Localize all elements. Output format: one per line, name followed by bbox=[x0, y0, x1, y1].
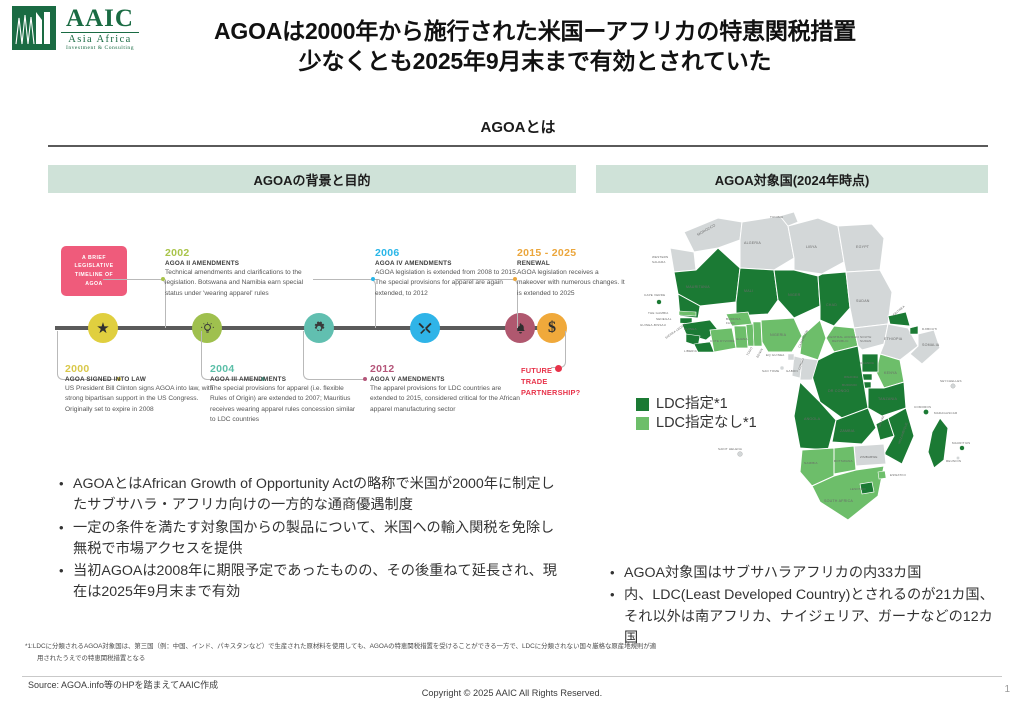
timeline-connector-2006 bbox=[313, 279, 376, 328]
map-label-botswana: BOTSWANA bbox=[834, 459, 853, 463]
map-label-algeria: ALGERIA bbox=[744, 241, 761, 245]
timeline-body-2012: The apparel provisions for LDC countries… bbox=[370, 384, 520, 415]
footnote-line1: *1:LDCに分類されるAGOA対象国は、第三国（例：中国、インド、パキスタンな… bbox=[25, 643, 656, 650]
africa-map-svg: MOROCCO ALGERIA LIBYA EGYPT TUNISIA WEST… bbox=[622, 196, 994, 556]
timeline-body-2000: US President Bill Clinton signs AGOA int… bbox=[65, 384, 215, 415]
timeline-item-2004: 2004 AGOA III AMENDMENTS The special pro… bbox=[210, 363, 360, 425]
country-benin bbox=[753, 322, 762, 346]
logo-mark-icon bbox=[12, 6, 56, 50]
logo-tagline: Asia Africa bbox=[68, 34, 132, 46]
aaic-logo: AAIC Asia Africa Investment & Consulting bbox=[12, 6, 140, 54]
map-label-benin: BENIN bbox=[755, 348, 764, 359]
legend-swatch-non-ldc bbox=[636, 417, 649, 430]
legend-item-ldc: LDC指定*1 bbox=[636, 395, 757, 413]
timeline-subtitle-2006: AGOA IV AMENDMENTS bbox=[375, 260, 525, 267]
footnote-line2: 用されたうえでの特恵関税措置となる bbox=[25, 653, 1010, 665]
map-label-niger: NIGER bbox=[788, 293, 801, 297]
map-label-gabon: GABON bbox=[786, 369, 798, 373]
timeline-year-2015: 2015 - 2025 bbox=[517, 247, 627, 259]
map-label-liberia: LIBERIA bbox=[684, 349, 697, 353]
map-label-south-sudan-2: SUDAN bbox=[860, 339, 872, 343]
map-label-western-sahara: WESTERN bbox=[652, 255, 668, 259]
left-bullet-list: AGOAとはAfrican Growth of Opportunity Actの… bbox=[55, 474, 560, 605]
legend-label-ldc: LDC指定*1 bbox=[656, 395, 728, 413]
timeline-node-tools-icon bbox=[410, 313, 440, 343]
section-title: AGOAとは bbox=[48, 116, 988, 137]
timeline-subtitle-2000: AGOA SIGNED INTO LAW bbox=[65, 376, 215, 383]
legend-label-non-ldc: LDC指定なし*1 bbox=[656, 414, 757, 432]
page-number: 1 bbox=[1004, 684, 1010, 695]
copyright-note: Copyright © 2025 AAIC All Rights Reserve… bbox=[0, 688, 1024, 698]
country-equatorial-guinea bbox=[788, 354, 794, 360]
timeline-item-2015: 2015 - 2025 RENEWAL AGOA legislation rec… bbox=[517, 247, 627, 299]
timeline-dot-2012 bbox=[363, 377, 367, 381]
map-label-reunion: REUNION bbox=[946, 459, 961, 463]
timeline-future-line1: FUTURE bbox=[521, 365, 581, 376]
country-mauritius bbox=[960, 446, 965, 451]
country-mali bbox=[736, 268, 778, 316]
map-label-dr-congo: DR CONGO bbox=[828, 389, 849, 393]
map-label-libya: LIBYA bbox=[806, 245, 817, 249]
timeline-badge-line4: AGOA bbox=[85, 280, 103, 289]
map-label-the-gambia: THE GAMBIA bbox=[648, 311, 669, 315]
country-chad bbox=[818, 272, 850, 326]
timeline-year-2004: 2004 bbox=[210, 363, 360, 375]
logo-wordmark: AAIC bbox=[66, 7, 134, 31]
timeline-body-2015: AGOA legislation receives a makeover wit… bbox=[517, 268, 627, 299]
timeline-subtitle-2015: RENEWAL bbox=[517, 260, 627, 267]
timeline-body-2004: The special provisions for apparel (i.e.… bbox=[210, 384, 360, 425]
map-label-equatorial-guinea: EQ GUINEA bbox=[766, 353, 784, 357]
timeline-subtitle-2012: AGOA V AMENDMENTS bbox=[370, 376, 520, 383]
map-label-egypt: EGYPT bbox=[856, 245, 870, 249]
country-madagascar bbox=[928, 418, 948, 468]
list-item: AGOAとはAfrican Growth of Opportunity Actの… bbox=[73, 474, 560, 517]
map-label-mali: MALI bbox=[744, 289, 753, 293]
timeline-body-2006: AGOA legislation is extended from 2008 t… bbox=[375, 268, 525, 299]
panel-header-target-countries: AGOA対象国(2024年時点) bbox=[596, 165, 988, 193]
timeline-future-label: FUTURE TRADE PARTNERSHIP? bbox=[521, 365, 581, 398]
map-label-sudan: SUDAN bbox=[856, 299, 870, 303]
list-item: 内、LDC(Least Developed Country)とされるのが21カ国… bbox=[624, 585, 1006, 649]
map-label-central-african-republic-2: REPUBLIC bbox=[832, 339, 849, 343]
timeline-item-2000: 2000 AGOA SIGNED INTO LAW US President B… bbox=[65, 363, 215, 415]
right-bullet-list: AGOA対象国はサブサハラアフリカの内33カ国 内、LDC(Least Deve… bbox=[606, 563, 1006, 650]
section-divider bbox=[48, 145, 988, 147]
country-seychelles bbox=[951, 384, 955, 388]
map-label-nigeria: NIGERIA bbox=[770, 333, 787, 337]
map-label-namibia: NAMIBIA bbox=[804, 461, 818, 465]
list-item: 当初AGOAは2008年に期限予定であったものの、その後重ねて延長され、現在は2… bbox=[73, 561, 560, 604]
map-label-guinea-bissau: GUINEA-BISSAU bbox=[640, 323, 666, 327]
map-label-burundi: BURUNDI bbox=[842, 383, 857, 387]
map-label-ethiopia: ETHIOPIA bbox=[884, 337, 903, 341]
timeline-subtitle-2002: AGOA II AMENDMENTS bbox=[165, 260, 315, 267]
map-label-sierra-leone: SIERRA LEONE bbox=[664, 323, 686, 340]
list-item: AGOA対象国はサブサハラアフリカの内33カ国 bbox=[624, 563, 1006, 584]
map-label-cape-verde: CAPE VERDE bbox=[644, 293, 665, 297]
country-sao-tome bbox=[780, 366, 784, 370]
footnote: *1:LDCに分類されるAGOA対象国は、第三国（例：中国、インド、パキスタンな… bbox=[25, 641, 1010, 665]
map-label-somalia: SOMALIA bbox=[922, 343, 940, 347]
map-label-chad: CHAD bbox=[826, 303, 837, 307]
map-label-mauritius: MAURITIUS bbox=[952, 441, 970, 445]
logo-subtagline: Investment & Consulting bbox=[66, 45, 134, 52]
map-label-burkina-faso-2: FASO bbox=[726, 321, 735, 325]
panel-header-background-purpose: AGOAの背景と目的 bbox=[48, 165, 576, 193]
map-label-mauritania: MAURITANIA bbox=[686, 285, 710, 289]
country-comoros bbox=[923, 409, 928, 414]
timeline-future-line2: TRADE bbox=[521, 376, 581, 387]
timeline-subtitle-2004: AGOA III AMENDMENTS bbox=[210, 376, 360, 383]
timeline-connector-2002 bbox=[103, 279, 166, 328]
timeline-badge-line2: LEGISLATIVE bbox=[74, 262, 113, 271]
agoa-legislative-timeline: A BRIEF LEGISLATIVE TIMELINE OF AGOA ★ $… bbox=[55, 243, 565, 448]
country-western-sahara bbox=[670, 248, 696, 272]
map-label-djibouti: DJIBOUTI bbox=[922, 327, 937, 331]
timeline-year-2002: 2002 bbox=[165, 247, 315, 259]
page-title-line2: 少なくとも2025年9月末まで有効とされていた bbox=[140, 46, 930, 76]
map-label-angola: ANGOLA bbox=[804, 417, 821, 421]
country-djibouti bbox=[910, 326, 918, 334]
timeline-item-2012: 2012 AGOA V AMENDMENTS The apparel provi… bbox=[370, 363, 520, 415]
map-label-south-africa: SOUTH AFRICA bbox=[824, 499, 853, 503]
map-label-tunisia: TUNISIA bbox=[770, 215, 783, 219]
legend-item-non-ldc: LDC指定なし*1 bbox=[636, 414, 757, 432]
page-header: AAIC Asia Africa Investment & Consulting… bbox=[0, 0, 1024, 92]
timeline-connector-future bbox=[551, 331, 566, 368]
map-label-eswatini: ESWATINI bbox=[890, 473, 906, 477]
timeline-badge-line1: A BRIEF bbox=[82, 254, 106, 263]
timeline-item-2002: 2002 AGOA II AMENDMENTS Technical amendm… bbox=[165, 247, 315, 299]
timeline-item-2006: 2006 AGOA IV AMENDMENTS AGOA legislation… bbox=[375, 247, 525, 299]
timeline-future-line3: PARTNERSHIP? bbox=[521, 387, 581, 398]
map-label-tanzania: TANZANIA bbox=[878, 397, 898, 401]
country-cape-verde bbox=[657, 300, 662, 305]
map-label-senegal: SENEGAL bbox=[656, 317, 672, 321]
country-the-gambia bbox=[679, 311, 696, 316]
map-label-comoros: COMOROS bbox=[914, 405, 931, 409]
map-label-seychelles: SEYCHELLES bbox=[940, 379, 962, 383]
map-label-uganda: UGANDA bbox=[860, 361, 874, 365]
map-label-madagascar: MADAGASCAR bbox=[934, 411, 958, 415]
map-label-rwanda: RWANDA bbox=[844, 375, 858, 379]
map-label-kenya: KENYA bbox=[884, 371, 897, 375]
timeline-body-2002: Technical amendments and clarifications … bbox=[165, 268, 315, 299]
page-title-line1: AGOAは2000年から施行された米国ーアフリカの特恵関税措置 bbox=[140, 16, 930, 46]
country-eswatini bbox=[878, 471, 886, 479]
map-label-ghana: GHANA bbox=[736, 337, 748, 341]
country-saint-helena bbox=[738, 452, 743, 457]
map-label-cote-divoire: COTE D'IVOIRE bbox=[710, 339, 735, 343]
map-label-sao-tome: SAO TOME bbox=[762, 369, 779, 373]
map-legend: LDC指定*1 LDC指定なし*1 bbox=[636, 395, 757, 433]
timeline-year-2012: 2012 bbox=[370, 363, 520, 375]
timeline-year-2006: 2006 bbox=[375, 247, 525, 259]
map-label-saint-helena: SAINT HELENA bbox=[718, 447, 742, 451]
timeline-future-dot bbox=[555, 365, 562, 372]
map-label-lesotho: LESOTHO bbox=[850, 487, 866, 491]
map-label-zimbabwe: ZIMBABWE bbox=[860, 455, 878, 459]
africa-agoa-map: MOROCCO ALGERIA LIBYA EGYPT TUNISIA WEST… bbox=[622, 196, 994, 556]
list-item: 一定の条件を満たす対象国からの製品について、米国への輸入関税を免除し無税で市場ア… bbox=[73, 518, 560, 561]
legend-swatch-ldc bbox=[636, 398, 649, 411]
page-title: AGOAは2000年から施行された米国ーアフリカの特恵関税措置 少なくとも202… bbox=[140, 16, 930, 77]
map-label-guinea: GUINEA bbox=[684, 327, 697, 331]
map-label-zambia: ZAMBIA bbox=[840, 429, 855, 433]
footer-divider bbox=[22, 676, 1002, 677]
timeline-year-2000: 2000 bbox=[65, 363, 215, 375]
map-label-western-sahara-2: SAHARA bbox=[652, 260, 666, 264]
logo-divider bbox=[61, 32, 139, 33]
country-liberia bbox=[694, 342, 714, 352]
